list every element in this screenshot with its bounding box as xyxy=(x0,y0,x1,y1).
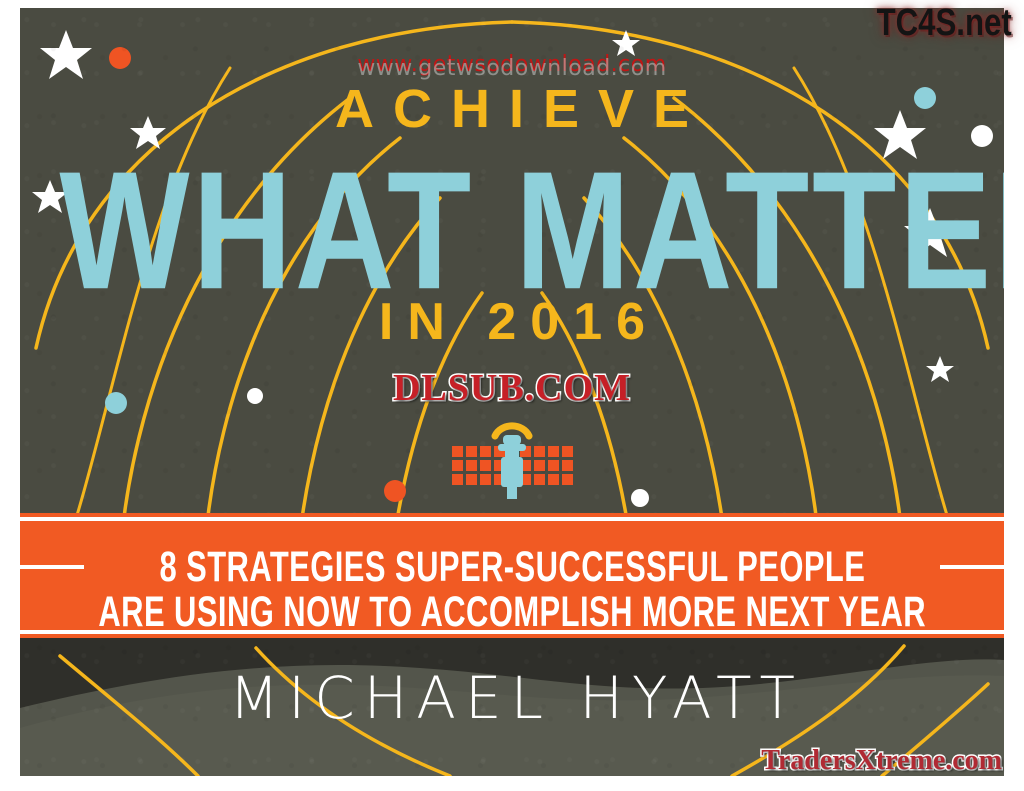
poster-image: ACHIEVE WHAT MATTERS IN 2016 xyxy=(0,0,1024,791)
subtitle-banner: 8 STRATEGIES SUPER-SUCCESSFUL PEOPLE ARE… xyxy=(20,513,1004,638)
headline-what-matters: WHAT MATTERS xyxy=(59,146,964,314)
banner-rule-bottom xyxy=(20,630,1004,634)
watermark-dlsub: DLSUB.COM xyxy=(0,366,1024,410)
banner-line-1-text: 8 STRATEGIES SUPER-SUCCESSFUL PEOPLE xyxy=(159,546,865,588)
author-name: MICHAEL HYATT xyxy=(20,669,1004,727)
watermark-getwsodownload: www.getwsodownload.com www.getwsodownloa… xyxy=(0,52,1024,77)
headline-in-2016: IN 2016 xyxy=(20,296,1004,348)
banner-line-2: ARE USING NOW TO ACCOMPLISH MORE NEXT YE… xyxy=(20,594,1004,630)
banner-line-2-text: ARE USING NOW TO ACCOMPLISH MORE NEXT YE… xyxy=(98,591,926,633)
banner-line-1: 8 STRATEGIES SUPER-SUCCESSFUL PEOPLE xyxy=(20,549,1004,585)
watermark-getwsodownload-shadow: www.getwsodownload.com xyxy=(0,56,1024,81)
watermark-tc4s: TC4S.net xyxy=(877,2,1012,45)
watermark-tradersxtreme: TradersXtreme.com xyxy=(761,745,1002,777)
banner-rule-top xyxy=(20,517,1004,521)
banner-dash-right xyxy=(940,565,1004,569)
headline-achieve: ACHIEVE xyxy=(20,82,1004,136)
satellite-icon xyxy=(440,420,584,508)
banner-dash-left xyxy=(20,565,84,569)
